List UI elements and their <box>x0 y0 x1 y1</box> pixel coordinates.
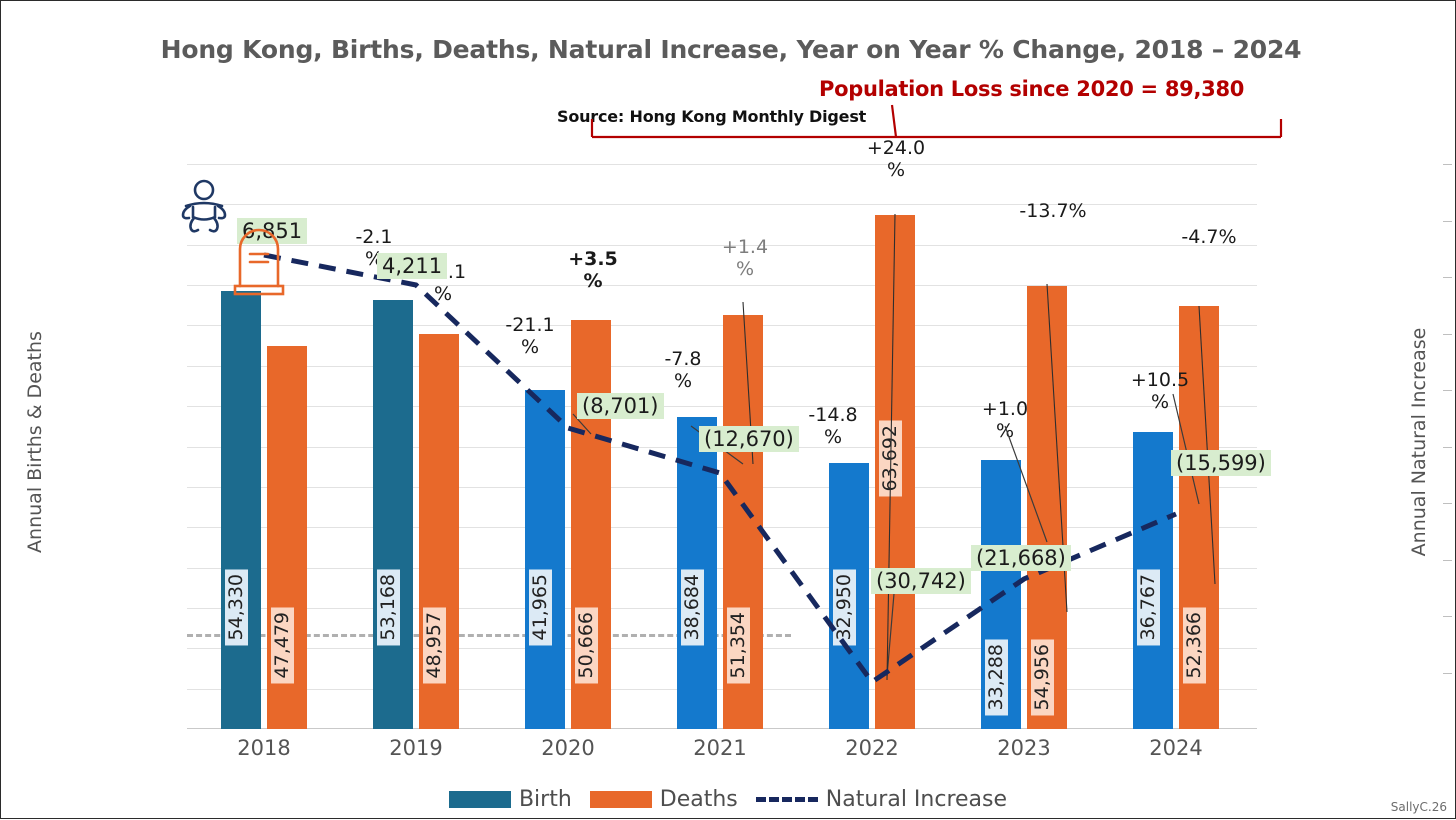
x-axis-line <box>187 728 1257 730</box>
ni-label-2020: (8,701) <box>577 393 664 419</box>
ni-label-2023: (21,668) <box>971 545 1071 571</box>
x-label-2022: 2022 <box>802 736 942 760</box>
x-label-2019: 2019 <box>346 736 486 760</box>
x-label-2020: 2020 <box>498 736 638 760</box>
ni-label-2022: (30,742) <box>871 568 971 594</box>
bar-value-birth-2018: 54,330 <box>225 569 248 645</box>
page-title: Hong Kong, Births, Deaths, Natural Incre… <box>151 31 1311 69</box>
bar-value-birth-2020: 41,965 <box>529 569 552 645</box>
gridline <box>187 406 1257 407</box>
legend-item-deaths[interactable]: Deaths <box>590 787 738 812</box>
pct-death-2021: +1.4 % <box>702 236 788 280</box>
pct-birth-2020: -21.1 % <box>487 314 573 358</box>
left-axis-title: Annual Births & Deaths <box>24 312 46 572</box>
gridline <box>187 325 1257 326</box>
bar-value-death-2019: 48,957 <box>423 607 446 683</box>
bar-value-birth-2023: 33,288 <box>985 639 1008 715</box>
x-label-2023: 2023 <box>954 736 1094 760</box>
legend-swatch-deaths <box>590 791 652 808</box>
bar-value-death-2022: 63,692 <box>879 420 902 496</box>
source-note: Source: Hong Kong Monthly Digest <box>557 107 866 126</box>
pct-birth-2022: -14.8 % <box>790 404 876 448</box>
watermark: SallyC.26 <box>1391 800 1447 814</box>
bar-value-death-2023: 54,956 <box>1031 639 1054 715</box>
ni-label-2021: (12,670) <box>699 426 799 452</box>
pct-birth-2021: -7.8 % <box>640 348 726 392</box>
gridline <box>187 648 1257 649</box>
bar-value-birth-2021: 38,684 <box>681 569 704 645</box>
pct-death-2023: -13.7% <box>993 200 1113 222</box>
legend-swatch-natural-increase <box>756 797 818 802</box>
tick-mark <box>1443 221 1452 222</box>
bar-value-death-2021: 51,354 <box>727 607 750 683</box>
x-label-2018: 2018 <box>194 736 334 760</box>
tick-mark <box>1443 390 1452 391</box>
population-loss-annotation: Population Loss since 2020 = 89,380 <box>819 77 1244 101</box>
x-label-2024: 2024 <box>1106 736 1246 760</box>
tick-mark <box>1443 164 1452 165</box>
tick-mark <box>1443 673 1452 674</box>
pct-death-2024: -4.7% <box>1149 226 1269 248</box>
bar-birth-2019[interactable] <box>373 300 413 729</box>
gridline <box>187 527 1257 528</box>
gridline <box>187 285 1257 286</box>
pct-birth-2024: +10.5 % <box>1117 369 1203 413</box>
right-axis-title: Annual Natural Increase <box>1408 312 1430 572</box>
pct-birth-2023: +1.0 % <box>962 398 1048 442</box>
plot-area: 70,000 65,000 60,000 55,000 50,000 45,00… <box>187 164 1257 729</box>
gridline <box>187 689 1257 690</box>
tick-mark <box>1443 447 1452 448</box>
bar-birth-2018[interactable] <box>221 291 261 730</box>
bar-value-death-2020: 50,666 <box>575 607 598 683</box>
legend-item-natural-increase[interactable]: Natural Increase <box>756 787 1007 812</box>
legend-label-natural-increase: Natural Increase <box>826 787 1007 812</box>
x-label-2021: 2021 <box>650 736 790 760</box>
bar-value-death-2018: 47,479 <box>271 607 294 683</box>
gridline <box>187 608 1257 609</box>
ni-label-2024: (15,599) <box>1171 450 1271 476</box>
bar-value-birth-2022: 32,950 <box>833 569 856 645</box>
bar-value-birth-2019: 53,168 <box>377 569 400 645</box>
tick-mark <box>1443 503 1452 504</box>
tick-mark <box>1443 560 1452 561</box>
tick-mark <box>1443 277 1452 278</box>
legend-item-birth[interactable]: Birth <box>449 787 572 812</box>
pct-death-2020: +3.5 % <box>550 248 636 292</box>
bar-value-birth-2024: 36,767 <box>1137 569 1160 645</box>
gridline <box>187 568 1257 569</box>
tick-mark <box>1443 616 1452 617</box>
ni-label-2019: 4,211 <box>377 253 447 279</box>
chart-legend: Birth Deaths Natural Increase <box>1 781 1455 817</box>
tick-mark <box>1443 334 1452 335</box>
bar-birth-2020[interactable] <box>525 390 565 729</box>
gridline <box>187 487 1257 488</box>
chart-canvas: Hong Kong, Births, Deaths, Natural Incre… <box>0 0 1456 819</box>
legend-label-birth: Birth <box>519 787 572 812</box>
legend-label-deaths: Deaths <box>660 787 738 812</box>
ni-label-2018: 6,851 <box>237 218 307 244</box>
legend-swatch-birth <box>449 791 511 808</box>
gridline <box>187 164 1257 165</box>
bar-value-death-2024: 52,366 <box>1183 607 1206 683</box>
pct-death-2022: +24.0 % <box>853 137 939 181</box>
